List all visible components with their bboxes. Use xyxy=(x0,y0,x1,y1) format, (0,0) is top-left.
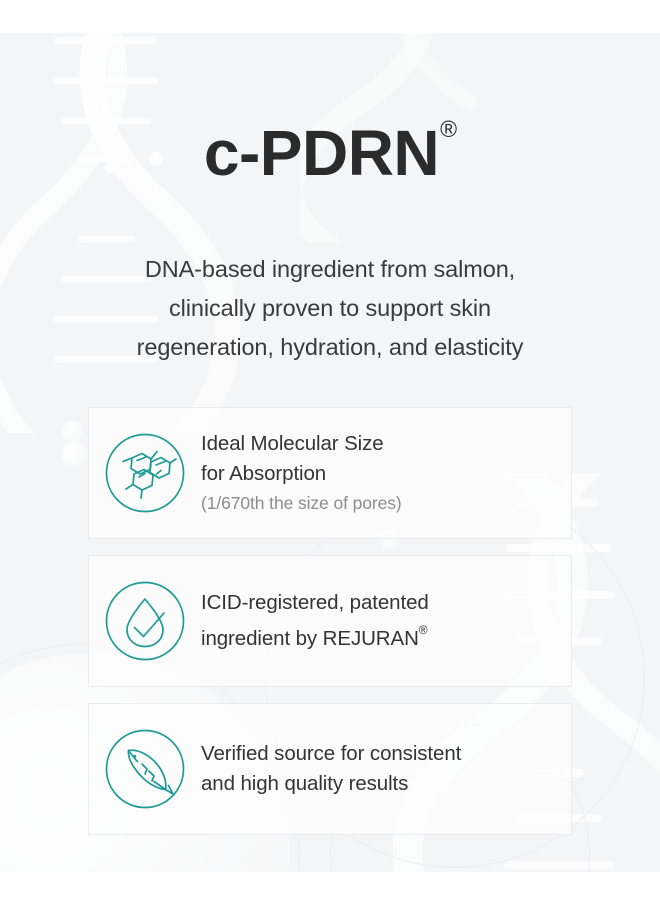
dna-helix-watermark-left xyxy=(0,33,290,433)
molecule-hexagons-icon xyxy=(89,432,201,514)
feature-title-line-1: ICID-registered, patented xyxy=(201,588,557,618)
registered-trademark-icon: ® xyxy=(440,116,457,142)
fish-icon xyxy=(89,728,201,810)
feature-card-icid-registered: ICID-registered, patented ingredient by … xyxy=(88,555,572,687)
subtitle-line-2: clinically proven to support skin xyxy=(0,289,660,328)
registered-trademark-icon: ® xyxy=(419,623,428,637)
feature-title-line-2: and high quality results xyxy=(201,769,557,799)
feature-card-list: Ideal Molecular Size for Absorption (1/6… xyxy=(88,407,572,835)
page-title: c-PDRN® xyxy=(0,121,660,185)
feature-subtext: (1/670th the size of pores) xyxy=(201,490,557,517)
feature-title-line-2-text: ingredient by REJURAN xyxy=(201,627,419,650)
feature-title-line-1: Ideal Molecular Size xyxy=(201,429,557,459)
feature-card-verified-source: Verified source for consistent and high … xyxy=(88,703,572,835)
feature-title-line-1: Verified source for consistent xyxy=(201,739,557,769)
feature-title-line-2: ingredient by REJURAN® xyxy=(201,618,557,654)
droplet-check-icon xyxy=(89,580,201,662)
feature-card-text: ICID-registered, patented ingredient by … xyxy=(201,588,571,654)
page-subtitle: DNA-based ingredient from salmon, clinic… xyxy=(0,250,660,367)
feature-title-line-2: for Absorption xyxy=(201,459,557,489)
content-panel: c-PDRN® DNA-based ingredient from salmon… xyxy=(0,33,660,872)
brand-name: c-PDRN xyxy=(204,117,439,189)
bubble-dot-1 xyxy=(62,421,84,443)
feature-card-text: Verified source for consistent and high … xyxy=(201,739,571,799)
feature-card-molecular-size: Ideal Molecular Size for Absorption (1/6… xyxy=(88,407,572,539)
feature-card-text: Ideal Molecular Size for Absorption (1/6… xyxy=(201,429,571,517)
subtitle-line-3: regeneration, hydration, and elasticity xyxy=(0,328,660,367)
bubble-dot-2 xyxy=(62,442,88,468)
subtitle-line-1: DNA-based ingredient from salmon, xyxy=(0,250,660,289)
product-ingredient-infographic: c-PDRN® DNA-based ingredient from salmon… xyxy=(0,0,660,904)
